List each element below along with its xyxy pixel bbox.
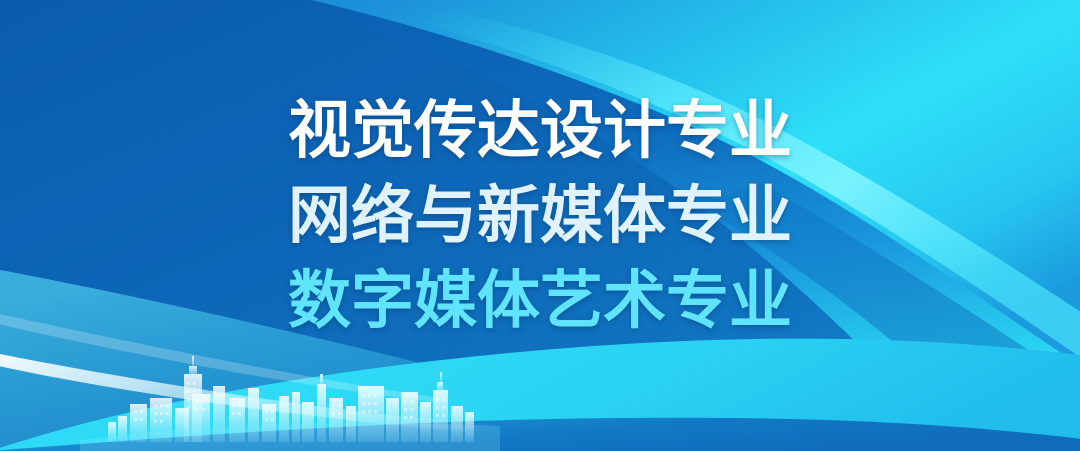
banner-background-art <box>0 0 1080 451</box>
promo-banner: 视觉传达设计专业 网络与新媒体专业 数字媒体艺术专业 <box>0 0 1080 451</box>
